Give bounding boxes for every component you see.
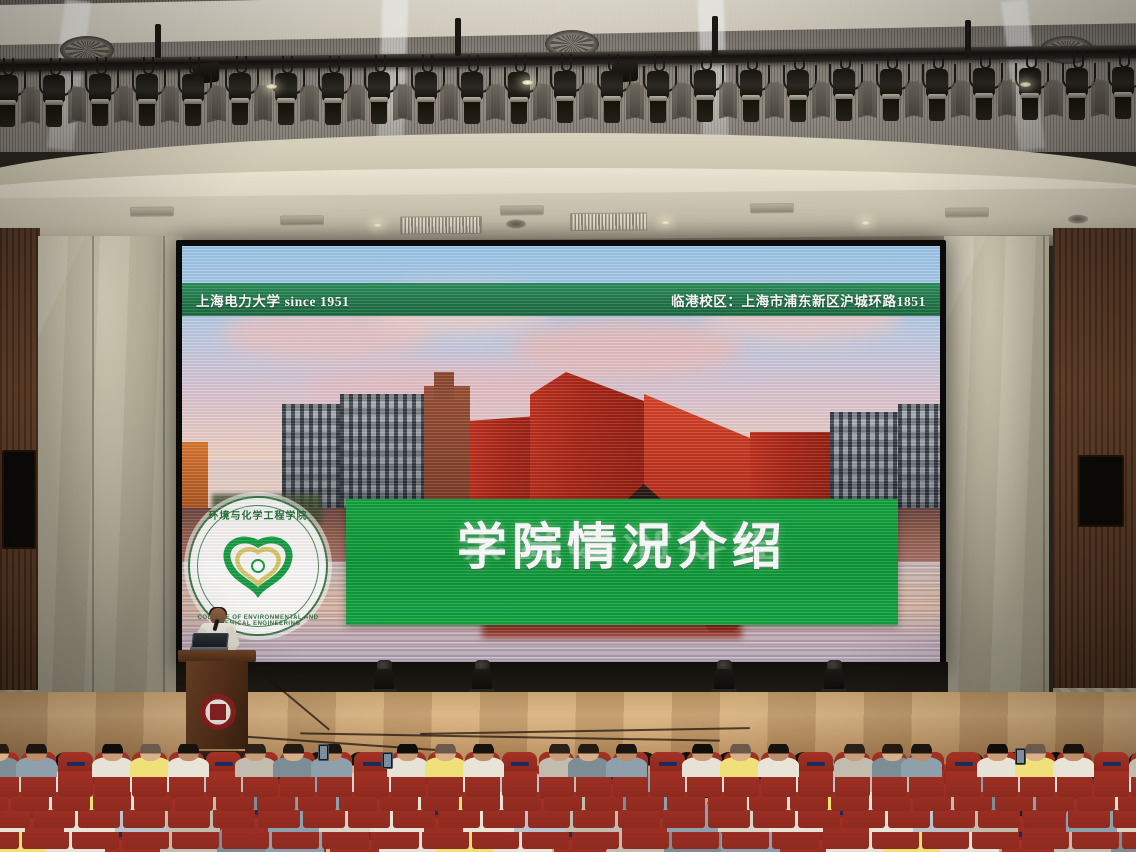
university-crest-icon xyxy=(200,694,236,730)
light-snoot xyxy=(185,104,201,126)
light-body xyxy=(554,71,576,99)
audience-member-shoulders xyxy=(1129,757,1136,777)
barn-door xyxy=(723,81,737,118)
barn-door xyxy=(26,86,40,123)
barn-door xyxy=(863,80,877,117)
truss-post xyxy=(965,20,971,58)
audience-member-head xyxy=(768,744,790,761)
auditorium-seat[interactable] xyxy=(650,752,685,797)
auditorium-seat[interactable] xyxy=(798,752,833,797)
audience-member-head xyxy=(730,744,752,761)
barn-door xyxy=(444,83,458,120)
led-screen-surface: 上海电力大学 since 1951 临港校区：上海市浦东新区沪城环路1851 环… xyxy=(182,246,940,664)
light-snoot xyxy=(883,99,899,121)
light-body xyxy=(229,73,251,101)
light-body xyxy=(833,69,855,97)
truss-post xyxy=(155,24,161,58)
seal-chinese-name: 环境与化学工程学院 xyxy=(190,507,326,522)
light-snoot xyxy=(1115,97,1131,119)
audience-member-head xyxy=(844,744,866,761)
led-screen[interactable]: 上海电力大学 since 1951 临港校区：上海市浦东新区沪城环路1851 环… xyxy=(176,240,946,670)
light-snoot xyxy=(418,102,434,124)
light-body xyxy=(926,69,948,97)
soffit-downlight-icon xyxy=(860,220,871,225)
auditorium-seat[interactable] xyxy=(58,752,93,797)
audience-member-head xyxy=(616,744,638,761)
light-body xyxy=(89,74,111,102)
barn-door xyxy=(1002,79,1016,116)
barn-door xyxy=(119,85,133,122)
marble-seam xyxy=(92,236,94,756)
barn-door xyxy=(537,82,551,119)
barn-door xyxy=(398,83,412,120)
audience-member-head xyxy=(882,744,904,761)
audience-member-head xyxy=(435,744,457,761)
soffit-downlight-icon xyxy=(660,220,671,225)
audience-member-head xyxy=(1063,744,1085,761)
barn-door xyxy=(816,80,830,117)
slide-header-left: 上海电力大学 since 1951 xyxy=(196,290,349,310)
auditorium-scene: 上海电力大学 since 1951 临港校区：上海市浦东新区沪城环路1851 环… xyxy=(0,0,1136,852)
campus-building-orange xyxy=(182,442,208,512)
ceiling-downlight-icon xyxy=(1020,82,1031,87)
barn-door xyxy=(1095,78,1109,115)
light-body xyxy=(694,70,716,98)
ceiling-air-grille xyxy=(400,216,482,235)
slide-title-reflection: 学院情况介绍 xyxy=(346,524,898,569)
barn-door xyxy=(770,81,784,118)
seal-emblem-icon xyxy=(216,532,300,598)
light-snoot xyxy=(139,104,155,126)
light-body xyxy=(415,72,437,100)
light-snoot xyxy=(371,102,387,124)
light-snoot xyxy=(836,99,852,121)
ceiling-downlight-icon xyxy=(522,80,533,85)
barn-door xyxy=(351,84,365,121)
campus-building-brick xyxy=(424,386,470,512)
light-snoot xyxy=(1022,98,1038,120)
light-snoot xyxy=(976,98,992,120)
light-snoot xyxy=(511,102,527,124)
barn-door xyxy=(630,82,644,119)
audience-member-head xyxy=(578,744,600,761)
slide-header-right: 临港校区：上海市浦东新区沪城环路1851 xyxy=(671,290,926,310)
ceiling-round-vent xyxy=(506,219,526,228)
audience-member-head xyxy=(397,744,419,761)
light-snoot xyxy=(232,103,248,125)
light-body xyxy=(508,72,530,100)
seat-number-plate xyxy=(510,762,528,766)
audience-member-head xyxy=(178,744,200,761)
barn-door xyxy=(258,84,272,121)
barn-door xyxy=(677,81,691,118)
audience-phone xyxy=(382,752,393,769)
light-snoot xyxy=(650,101,666,123)
light-snoot xyxy=(743,100,759,122)
light-body xyxy=(880,69,902,97)
wall-marble-right xyxy=(944,236,1049,756)
marble-seam xyxy=(1043,236,1045,756)
audience-phone xyxy=(318,744,329,761)
audience-area xyxy=(0,744,1136,852)
audience-phone xyxy=(1015,748,1026,765)
ceiling-slot-vent xyxy=(945,207,989,217)
light-body xyxy=(182,74,204,102)
light-body xyxy=(0,75,18,103)
audience-member-head xyxy=(987,744,1009,761)
marble-seam xyxy=(163,236,165,756)
light-body xyxy=(601,71,623,99)
audience-member-head xyxy=(549,744,571,761)
ceiling-slot-vent xyxy=(280,215,324,225)
slide-title-banner: 学院情况介绍 学院情况介绍 xyxy=(346,499,898,625)
light-body xyxy=(322,73,344,101)
light-snoot xyxy=(278,103,294,125)
audience-member-head xyxy=(692,744,714,761)
light-body xyxy=(136,74,158,102)
barn-door xyxy=(305,84,319,121)
light-body xyxy=(368,72,390,100)
campus-building-grey xyxy=(898,404,940,512)
seat-number-plate xyxy=(362,762,380,766)
seat-number-plate xyxy=(1102,762,1120,766)
light-body xyxy=(461,72,483,100)
light-snoot xyxy=(0,105,15,127)
light-snoot xyxy=(464,102,480,124)
audience-member-head xyxy=(26,744,48,761)
wall-acoustic-panel-right xyxy=(1078,455,1124,527)
auditorium-seat[interactable] xyxy=(1094,752,1129,797)
light-snoot xyxy=(92,104,108,126)
light-body xyxy=(1112,67,1134,95)
light-body xyxy=(1066,68,1088,96)
ceiling-slot-vent xyxy=(130,206,174,216)
barn-door xyxy=(165,85,179,122)
barn-door xyxy=(72,86,86,123)
rooftop-structure xyxy=(434,372,454,400)
light-snoot xyxy=(557,101,573,123)
light-body xyxy=(973,68,995,96)
audience-member-head xyxy=(1025,744,1047,761)
barn-door xyxy=(956,79,970,116)
light-snoot xyxy=(1069,98,1085,120)
wall-acoustic-panel-left xyxy=(2,450,36,549)
ceiling-slot-vent xyxy=(500,205,544,215)
audience-member-head xyxy=(911,744,933,761)
barn-door xyxy=(909,80,923,117)
audience-member-head xyxy=(473,744,495,761)
campus-building-grey xyxy=(830,412,902,512)
truss-post xyxy=(455,18,461,56)
barn-door xyxy=(212,85,226,122)
ceiling-slot-vent xyxy=(750,203,794,213)
barn-door xyxy=(491,83,505,120)
light-body xyxy=(647,71,669,99)
audience-member-head xyxy=(102,744,124,761)
ceiling-downlight-icon xyxy=(266,84,277,89)
wall-marble-left xyxy=(38,236,183,756)
light-body xyxy=(740,70,762,98)
seat-number-plate xyxy=(954,762,972,766)
light-snoot xyxy=(604,101,620,123)
light-snoot xyxy=(790,100,806,122)
soffit-downlight-icon xyxy=(372,223,383,228)
light-body xyxy=(275,73,297,101)
seat-number-plate xyxy=(66,762,84,766)
audience-member-head xyxy=(283,744,305,761)
light-snoot xyxy=(325,103,341,125)
seat-number-plate xyxy=(806,762,824,766)
audience-member-head xyxy=(140,744,162,761)
seat-number-plate xyxy=(658,762,676,766)
light-snoot xyxy=(46,105,62,127)
barn-door xyxy=(1049,79,1063,116)
barn-door xyxy=(584,82,598,119)
auditorium-seat[interactable] xyxy=(946,752,981,797)
auditorium-seat[interactable] xyxy=(502,752,537,797)
ceiling-round-vent xyxy=(1068,215,1088,224)
slide-header-bar: 上海电力大学 since 1951 临港校区：上海市浦东新区沪城环路1851 xyxy=(182,283,940,316)
campus-building-grey xyxy=(340,394,436,512)
seat-number-plate xyxy=(214,762,232,766)
light-snoot xyxy=(697,100,713,122)
truss-post xyxy=(712,16,718,56)
light-snoot xyxy=(929,99,945,121)
ceiling-air-grille xyxy=(570,212,647,231)
light-body xyxy=(787,70,809,98)
light-body xyxy=(43,75,65,103)
audience-member-head xyxy=(245,744,267,761)
